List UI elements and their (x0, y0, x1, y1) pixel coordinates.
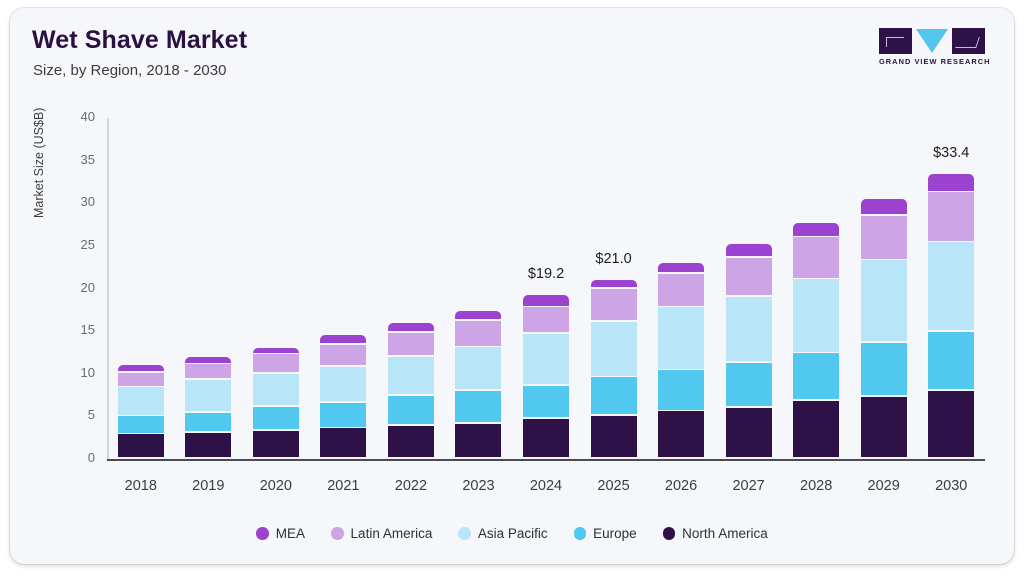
bar-segment[interactable] (388, 357, 434, 395)
bar-segment[interactable] (388, 396, 434, 424)
plot-area: Market Size (US$B) 0510152025303540 $19.… (10, 8, 1014, 564)
legend-item[interactable]: MEA (256, 526, 305, 541)
x-tick-label: 2024 (511, 478, 581, 494)
legend-swatch-icon (331, 527, 344, 540)
bar-segment[interactable] (253, 348, 299, 352)
bar-segment[interactable] (793, 401, 839, 457)
y-tick-label: 40 (59, 109, 95, 124)
bar-segment[interactable] (185, 380, 231, 412)
bar-segment[interactable] (523, 307, 569, 332)
bar-segment[interactable] (320, 345, 366, 366)
bar-group[interactable] (185, 118, 231, 459)
bar-segment[interactable] (861, 343, 907, 395)
y-tick-label: 0 (59, 450, 95, 465)
legend-label: Asia Pacific (478, 526, 548, 541)
x-tick-label: 2027 (714, 478, 784, 494)
bar-group[interactable] (118, 118, 164, 459)
bar-segment[interactable] (793, 279, 839, 352)
bar-segment[interactable] (118, 387, 164, 414)
legend-item[interactable]: North America (663, 526, 768, 541)
bar-segment[interactable] (185, 364, 231, 378)
bar-segment[interactable] (793, 223, 839, 236)
bar-segment[interactable] (726, 363, 772, 407)
bar-segment[interactable] (591, 289, 637, 321)
bar-segment[interactable] (591, 322, 637, 376)
y-tick-label: 15 (59, 322, 95, 337)
bar-group[interactable] (388, 118, 434, 459)
bar-value-label: $21.0 (574, 251, 654, 267)
legend-swatch-icon (574, 527, 587, 540)
y-axis-line (107, 118, 109, 461)
bar-segment[interactable] (928, 332, 974, 389)
bar-segment[interactable] (185, 413, 231, 431)
x-tick-label: 2030 (916, 478, 986, 494)
x-tick-label: 2029 (849, 478, 919, 494)
y-tick-label: 25 (59, 237, 95, 252)
bar-segment[interactable] (523, 334, 569, 384)
legend-label: MEA (276, 526, 305, 541)
x-tick-label: 2028 (781, 478, 851, 494)
legend-item[interactable]: Europe (574, 526, 637, 541)
bar-value-label: $33.4 (911, 145, 991, 161)
y-tick-label: 35 (59, 152, 95, 167)
x-axis-line (107, 459, 985, 461)
bar-group[interactable] (726, 118, 772, 459)
bar-segment[interactable] (455, 391, 501, 423)
legend-label: North America (682, 526, 768, 541)
bar-segment[interactable] (726, 297, 772, 361)
bar-group[interactable] (928, 118, 974, 459)
y-tick-label: 10 (59, 365, 95, 380)
legend-swatch-icon (458, 527, 471, 540)
y-tick-label: 20 (59, 280, 95, 295)
x-tick-label: 2025 (579, 478, 649, 494)
bar-segment[interactable] (185, 357, 231, 363)
screenshot-frame: Wet Shave Market Size, by Region, 2018 -… (0, 0, 1024, 576)
x-tick-label: 2020 (241, 478, 311, 494)
bar-segment[interactable] (591, 416, 637, 458)
bar-segment[interactable] (253, 354, 299, 372)
bar-segment[interactable] (928, 174, 974, 190)
legend-swatch-icon (663, 527, 676, 540)
bar-segment[interactable] (861, 260, 907, 341)
bar-segment[interactable] (658, 370, 704, 409)
bar-segment[interactable] (861, 199, 907, 214)
bar-segment[interactable] (523, 386, 569, 418)
bar-group[interactable] (591, 118, 637, 459)
bar-segment[interactable] (118, 416, 164, 432)
y-tick-label: 5 (59, 407, 95, 422)
bar-group[interactable] (861, 118, 907, 459)
bar-segment[interactable] (455, 347, 501, 389)
legend-swatch-icon (256, 527, 269, 540)
bar-segment[interactable] (658, 274, 704, 306)
bar-segment[interactable] (118, 434, 164, 457)
x-tick-label: 2026 (646, 478, 716, 494)
legend-label: Europe (593, 526, 637, 541)
bar-segment[interactable] (658, 263, 704, 272)
bar-segment[interactable] (861, 397, 907, 458)
bar-segment[interactable] (793, 237, 839, 277)
bar-segment[interactable] (928, 242, 974, 330)
bar-segment[interactable] (455, 424, 501, 457)
legend-item[interactable]: Asia Pacific (458, 526, 547, 541)
bar-group[interactable] (793, 118, 839, 459)
bar-segment[interactable] (658, 307, 704, 368)
bar-segment[interactable] (388, 333, 434, 355)
chart-legend: MEALatin AmericaAsia PacificEuropeNorth … (10, 526, 1014, 541)
bar-segment[interactable] (793, 353, 839, 399)
bar-group[interactable] (253, 118, 299, 459)
chart-card: Wet Shave Market Size, by Region, 2018 -… (10, 8, 1014, 564)
bar-segment[interactable] (320, 428, 366, 457)
bar-segment[interactable] (658, 411, 704, 457)
bar-value-label: $19.2 (506, 266, 586, 282)
bar-segment[interactable] (320, 367, 366, 401)
x-tick-label: 2021 (308, 478, 378, 494)
y-tick-label: 30 (59, 194, 95, 209)
bar-group[interactable] (658, 118, 704, 459)
legend-label: Latin America (351, 526, 433, 541)
bar-segment[interactable] (388, 323, 434, 332)
bar-segment[interactable] (591, 377, 637, 414)
bar-segment[interactable] (253, 407, 299, 429)
bar-segment[interactable] (118, 365, 164, 371)
bar-segment[interactable] (185, 433, 231, 458)
bar-group[interactable] (455, 118, 501, 459)
bar-segment[interactable] (455, 321, 501, 346)
bar-segment[interactable] (253, 431, 299, 458)
bar-segment[interactable] (928, 391, 974, 458)
bar-segment[interactable] (861, 216, 907, 259)
bar-segment[interactable] (118, 373, 164, 386)
bar-segment[interactable] (320, 335, 366, 343)
bar-group[interactable] (320, 118, 366, 459)
y-axis-title: Market Size (US$B) (32, 108, 46, 218)
bar-segment[interactable] (523, 295, 569, 305)
legend-item[interactable]: Latin America (331, 526, 432, 541)
x-tick-label: 2019 (173, 478, 243, 494)
bar-segment[interactable] (726, 408, 772, 458)
bar-segment[interactable] (388, 426, 434, 458)
bar-segment[interactable] (726, 244, 772, 256)
bar-segment[interactable] (523, 419, 569, 457)
x-tick-label: 2022 (376, 478, 446, 494)
bar-segment[interactable] (253, 374, 299, 406)
x-tick-label: 2023 (443, 478, 513, 494)
bar-segment[interactable] (726, 258, 772, 296)
bar-group[interactable] (523, 118, 569, 459)
bar-segment[interactable] (320, 403, 366, 427)
bar-segment[interactable] (591, 280, 637, 287)
bar-segment[interactable] (928, 192, 974, 241)
bar-segment[interactable] (455, 311, 501, 320)
x-tick-label: 2018 (106, 478, 176, 494)
